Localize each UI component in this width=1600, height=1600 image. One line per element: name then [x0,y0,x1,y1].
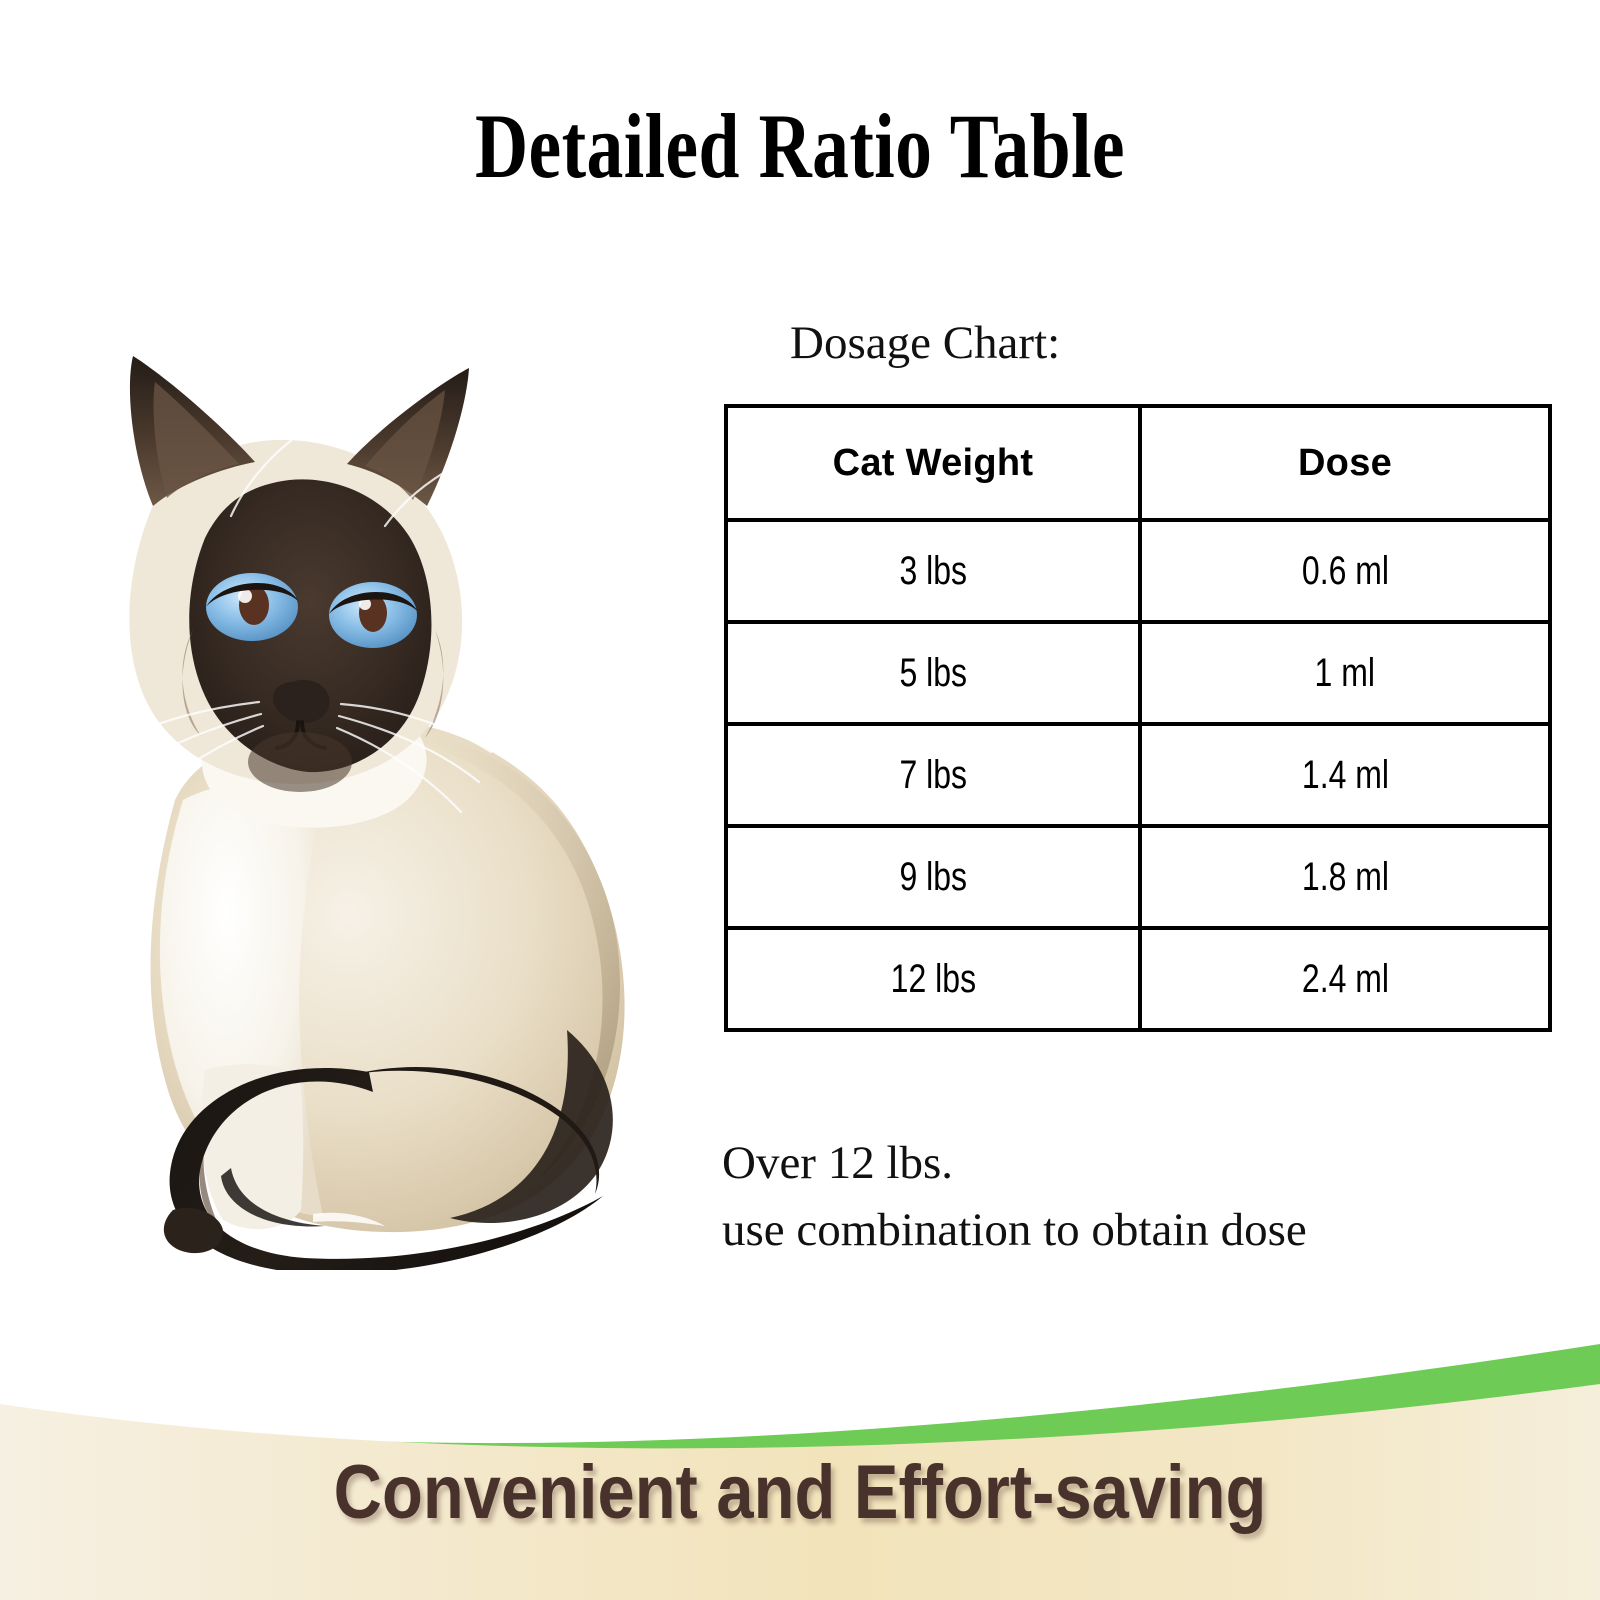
banner-wave-shape [0,1280,1600,1600]
cell-weight: 12 lbs [726,928,1140,1030]
cell-weight-text: 12 lbs [890,957,975,1002]
cell-weight-text: 7 lbs [899,753,967,798]
footnote-line-1: Over 12 lbs. [722,1130,1307,1197]
cell-dose: 1.4 ml [1140,724,1550,826]
cell-dose-text: 1 ml [1315,651,1375,696]
column-header-dose: Dose [1140,406,1550,520]
cell-weight: 3 lbs [726,520,1140,622]
page-title: Detailed Ratio Table [160,98,1440,195]
cell-dose: 1.8 ml [1140,826,1550,928]
table-row: 9 lbs 1.8 ml [726,826,1550,928]
table-footnote: Over 12 lbs. use combination to obtain d… [722,1130,1307,1263]
dosage-table: Cat Weight Dose 3 lbs 0.6 ml 5 lbs 1 ml … [724,404,1552,1032]
cell-weight-text: 3 lbs [899,549,967,594]
cell-weight: 9 lbs [726,826,1140,928]
cell-dose: 2.4 ml [1140,928,1550,1030]
bottom-banner: Convenient and Effort-saving [0,1280,1600,1600]
table-header-row: Cat Weight Dose [726,406,1550,520]
siamese-cat-photo [55,330,675,1270]
poster-canvas: Detailed Ratio Table [0,0,1600,1600]
cell-dose: 1 ml [1140,622,1550,724]
cell-weight-text: 9 lbs [899,855,967,900]
cell-weight: 5 lbs [726,622,1140,724]
table-row: 5 lbs 1 ml [726,622,1550,724]
table-row: 3 lbs 0.6 ml [726,520,1550,622]
table-row: 7 lbs 1.4 ml [726,724,1550,826]
table-row: 12 lbs 2.4 ml [726,928,1550,1030]
footnote-line-2: use combination to obtain dose [722,1197,1307,1264]
cell-weight: 7 lbs [726,724,1140,826]
column-header-cat-weight: Cat Weight [726,406,1140,520]
cell-weight-text: 5 lbs [899,651,967,696]
banner-tagline: Convenient and Effort-saving [96,1455,1504,1531]
cell-dose-text: 2.4 ml [1301,957,1388,1002]
cell-dose-text: 0.6 ml [1301,549,1388,594]
cell-dose: 0.6 ml [1140,520,1550,622]
cell-dose-text: 1.4 ml [1301,753,1388,798]
cell-dose-text: 1.8 ml [1301,855,1388,900]
dosage-chart-label: Dosage Chart: [790,318,1060,370]
